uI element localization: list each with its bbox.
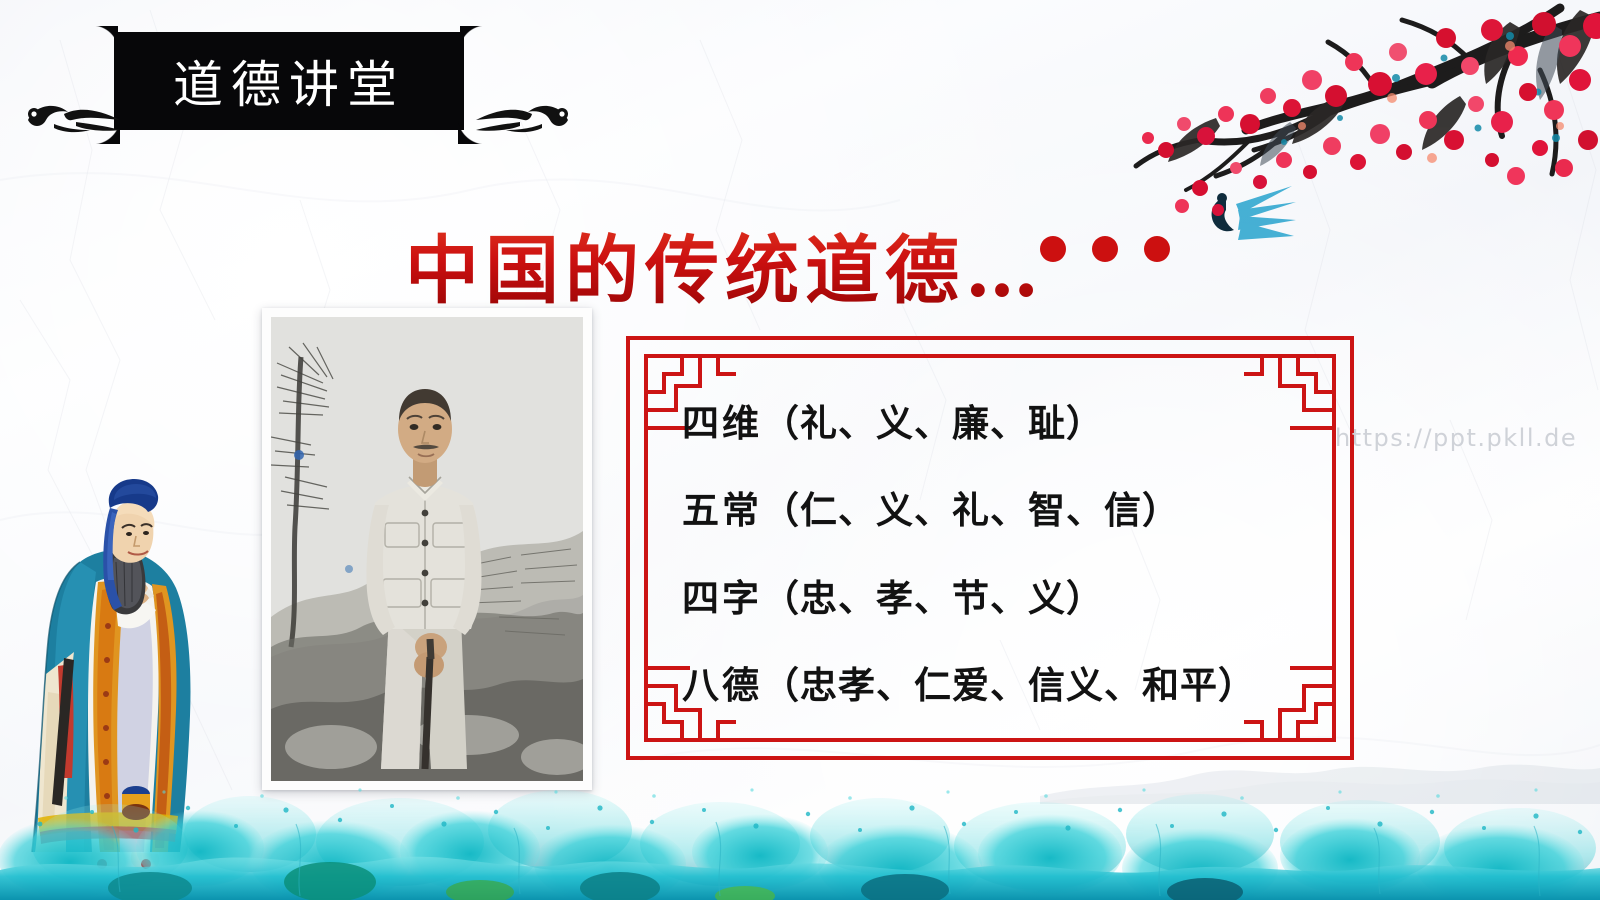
ornament-flourish-icon [20, 90, 130, 136]
list-item: 五常（仁、义、礼、智、信） [682, 480, 1320, 534]
ink-landscape-band-icon [0, 750, 1600, 900]
title-banner: 道德讲堂 [14, 16, 574, 146]
precept-detail: （礼、义、廉、耻） [762, 401, 1104, 445]
precept-detail: （忠、孝、节、义） [762, 576, 1104, 620]
list-item: 八德（忠孝、仁爱、信义、和平） [682, 655, 1320, 709]
slide-canvas: 道德讲堂 [0, 0, 1600, 900]
portrait-sun-yat-sen [271, 317, 583, 781]
list-item: 四字（忠、孝、节、义） [682, 568, 1320, 622]
precept-lead: 四维 [682, 401, 762, 445]
ornament-flourish-icon [466, 90, 576, 136]
precept-detail: （忠孝、仁爱、信义、和平） [762, 663, 1256, 707]
page-title: 道德讲堂 [114, 32, 464, 130]
precepts-frame: 四维（礼、义、廉、耻） 五常（仁、义、礼、智、信） 四字（忠、孝、节、义） 八德… [620, 330, 1360, 766]
precept-lead: 四字 [682, 576, 762, 620]
confucius-figure-icon [18, 466, 198, 880]
portrait-photo-frame [262, 308, 592, 790]
precept-detail: （仁、义、礼、智、信） [762, 488, 1180, 532]
precept-lead: 五常 [682, 488, 762, 532]
precept-lead: 八德 [682, 663, 762, 707]
precepts-list: 四维（礼、义、廉、耻） 五常（仁、义、礼、智、信） 四字（忠、孝、节、义） 八德… [682, 376, 1320, 726]
list-item: 四维（礼、义、廉、耻） [682, 393, 1320, 447]
watermark-text: https://ppt.pkll.de [1335, 424, 1577, 452]
headline-text: 中国的传统道德… [405, 216, 1125, 312]
